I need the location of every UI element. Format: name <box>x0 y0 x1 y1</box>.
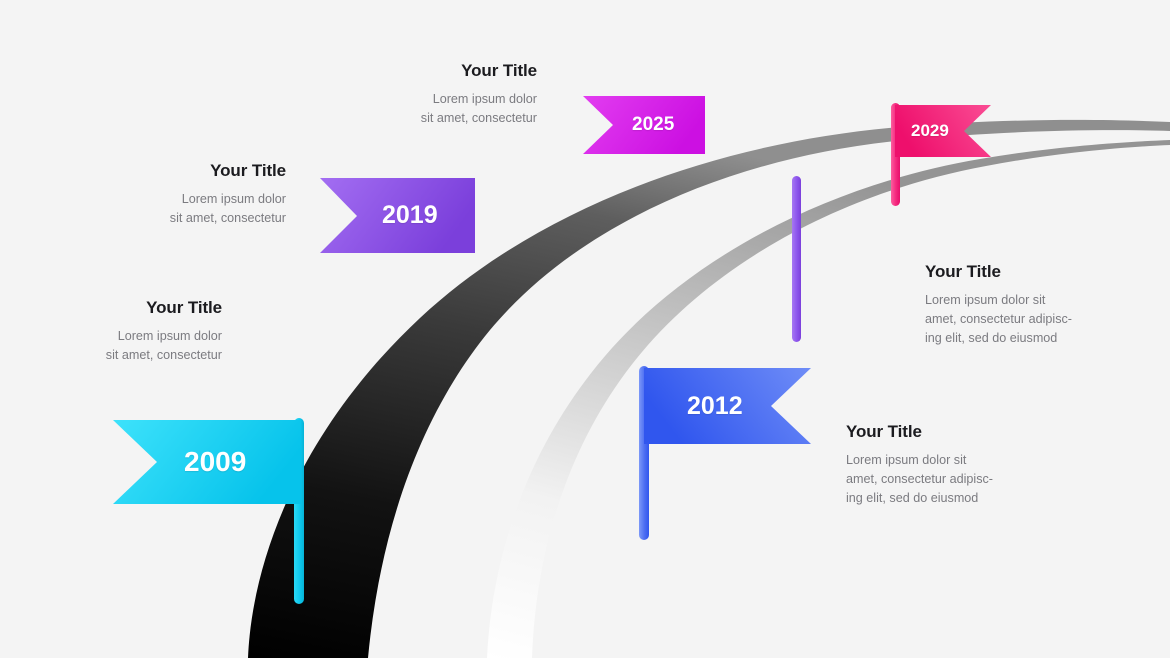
milestone-desc-2012-line-1: Lorem ipsum dolor sit <box>846 451 1076 470</box>
flag-banner-2025: 2025 <box>583 96 705 154</box>
flag-banner-2012: 2012 <box>644 368 811 444</box>
milestone-desc-2012-line-2: amet, consectetur adipisc- <box>846 470 1076 489</box>
milestone-desc-2019-line-1: Lorem ipsum dolor <box>96 190 286 209</box>
milestone-desc-2012-line-3: ing elit, sed do eiusmod <box>846 489 1076 508</box>
milestone-flag-2009[interactable]: 2009 <box>113 418 305 608</box>
milestone-text-2029: Your Title Lorem ipsum dolor sit amet, c… <box>925 262 1155 348</box>
milestone-desc-2009-line-2: sit amet, consectetur <box>32 346 222 365</box>
milestone-desc-2025-line-1: Lorem ipsum dolor <box>347 90 537 109</box>
milestone-desc-2025-line-2: sit amet, consectetur <box>347 109 537 128</box>
flag-year-2025: 2025 <box>632 114 674 136</box>
flag-year-2019: 2019 <box>382 201 438 230</box>
flag-banner-2019: 2019 <box>320 178 475 253</box>
flag-pole-2019 <box>792 176 801 342</box>
milestone-title-2012: Your Title <box>846 422 1076 442</box>
milestone-flag-2025[interactable]: 2025 <box>583 94 711 218</box>
flag-year-2009: 2009 <box>184 446 246 478</box>
flag-year-2029: 2029 <box>911 121 949 141</box>
flag-banner-2029: 2029 <box>895 105 991 157</box>
milestone-desc-2009-line-1: Lorem ipsum dolor <box>32 327 222 346</box>
milestone-flag-2029[interactable]: 2029 <box>891 103 991 207</box>
milestone-flag-2012[interactable]: 2012 <box>639 366 811 542</box>
milestone-text-2012: Your Title Lorem ipsum dolor sit amet, c… <box>846 422 1076 508</box>
milestone-text-2009: Your Title Lorem ipsum dolor sit amet, c… <box>32 298 222 365</box>
milestone-title-2029: Your Title <box>925 262 1155 282</box>
milestone-desc-2029-line-3: ing elit, sed do eiusmod <box>925 329 1155 348</box>
milestone-title-2019: Your Title <box>96 161 286 181</box>
infographic-canvas: Your Title Lorem ipsum dolor sit amet, c… <box>0 0 1170 658</box>
milestone-desc-2019-line-2: sit amet, consectetur <box>96 209 286 228</box>
milestone-desc-2029-line-2: amet, consectetur adipisc- <box>925 310 1155 329</box>
milestone-title-2009: Your Title <box>32 298 222 318</box>
flag-banner-2009: 2009 <box>113 420 301 504</box>
milestone-desc-2029-line-1: Lorem ipsum dolor sit <box>925 291 1155 310</box>
milestone-title-2025: Your Title <box>347 61 537 81</box>
milestone-text-2019: Your Title Lorem ipsum dolor sit amet, c… <box>96 161 286 228</box>
milestone-flag-2019[interactable]: 2019 <box>320 176 478 346</box>
flag-year-2012: 2012 <box>687 392 743 421</box>
milestone-text-2025: Your Title Lorem ipsum dolor sit amet, c… <box>347 61 537 128</box>
